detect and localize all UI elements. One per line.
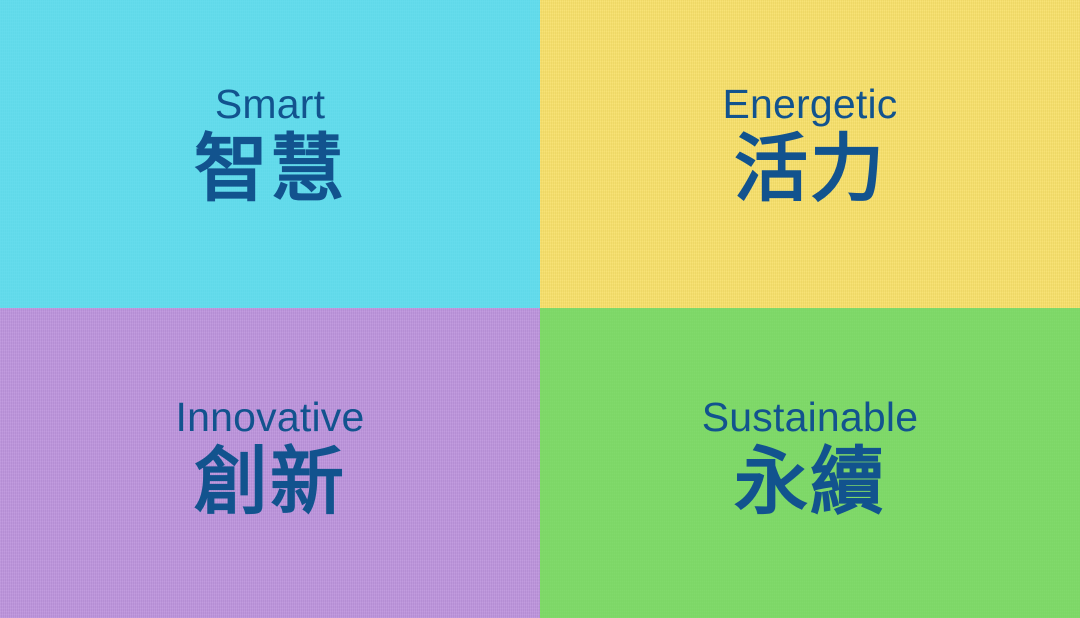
value-card-energetic: Energetic 活力	[540, 0, 1080, 308]
value-label-cjk-sustainable: 永續	[734, 444, 886, 522]
value-text-block: Sustainable 永續	[702, 397, 918, 522]
value-text-block: Energetic 活力	[722, 84, 897, 209]
value-card-sustainable: Sustainable 永續	[540, 308, 1080, 618]
brand-values-grid: Smart 智慧 Energetic 活力 Innovative 創新 Sust…	[0, 0, 1080, 618]
value-card-innovative: Innovative 創新	[0, 308, 540, 618]
value-label-en-smart: Smart	[215, 84, 325, 125]
value-text-block: Smart 智慧	[194, 84, 346, 209]
value-text-block: Innovative 創新	[176, 397, 365, 522]
value-label-cjk-innovative: 創新	[194, 444, 346, 522]
value-card-smart: Smart 智慧	[0, 0, 540, 308]
value-label-cjk-energetic: 活力	[734, 131, 886, 209]
value-label-cjk-smart: 智慧	[194, 131, 346, 209]
value-label-en-sustainable: Sustainable	[702, 397, 918, 438]
value-label-en-energetic: Energetic	[722, 84, 897, 125]
value-label-en-innovative: Innovative	[176, 397, 365, 438]
